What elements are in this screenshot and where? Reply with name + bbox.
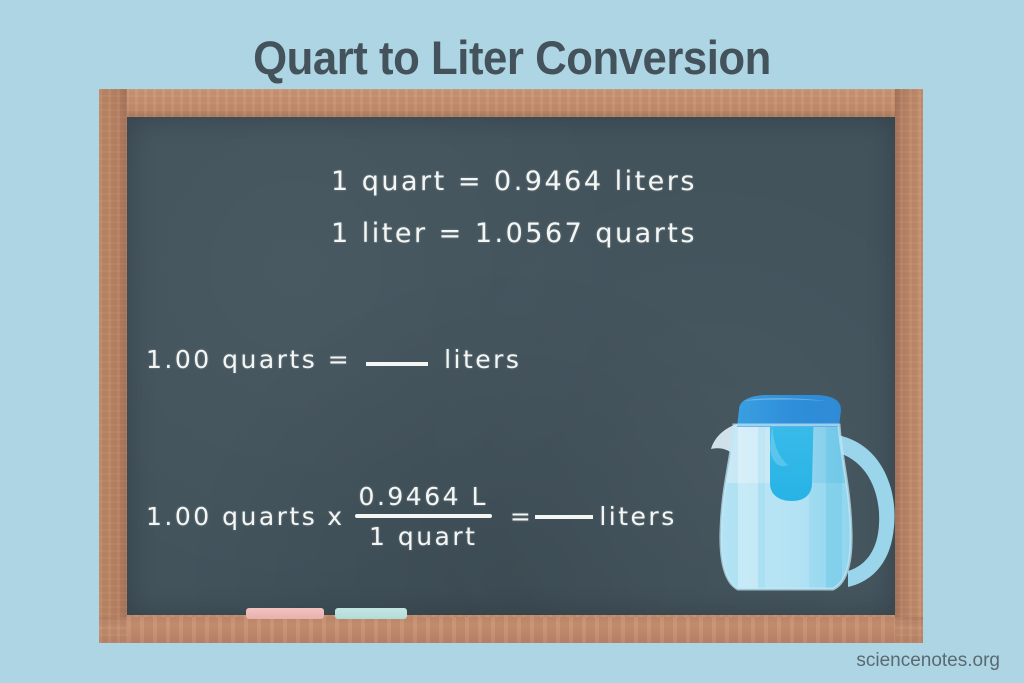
problem-equals: = (328, 345, 351, 374)
conversion-fact-liter-to-quart: 1 liter = 1.0567 quarts (331, 218, 697, 249)
chalkboard-surface: 1 quart = 0.9464 liters 1 liter = 1.0567… (127, 117, 895, 615)
water-pitcher-illustration (708, 391, 895, 615)
frame-right-rail (895, 89, 923, 643)
worked-unit: liters (599, 502, 676, 531)
page-title: Quart to Liter Conversion (36, 30, 988, 85)
worked-equation: 1.00 quarts x 0.9464 L 1 quart = liters (146, 482, 677, 551)
worked-equals: = (510, 502, 533, 531)
conversion-factor-numerator: 0.9464 L (355, 482, 492, 514)
chalkboard-frame: 1 quart = 0.9464 liters 1 liter = 1.0567… (99, 89, 923, 643)
pink-chalk[interactable] (246, 608, 324, 619)
problem-answer-blank (366, 362, 428, 366)
conversion-factor-denominator: 1 quart (365, 518, 481, 551)
worked-answer-blank (535, 515, 593, 519)
chalk-ledge (127, 617, 895, 643)
problem-unit: liters (444, 345, 521, 374)
blue-chalk[interactable] (335, 608, 407, 619)
problem-quantity: 1.00 quarts (146, 345, 317, 374)
frame-left-rail (99, 89, 127, 643)
frame-top-rail (99, 89, 923, 117)
worked-times-operator: x (327, 502, 344, 531)
watermark: sciencenotes.org (856, 650, 1000, 672)
conversion-factor-fraction: 0.9464 L 1 quart (355, 482, 492, 551)
conversion-fact-quart-to-liter: 1 quart = 0.9464 liters (331, 166, 697, 197)
worked-quantity: 1.00 quarts (146, 502, 317, 531)
problem-statement: 1.00 quarts = liters (146, 345, 521, 374)
ledge-wood-grain (127, 617, 895, 643)
